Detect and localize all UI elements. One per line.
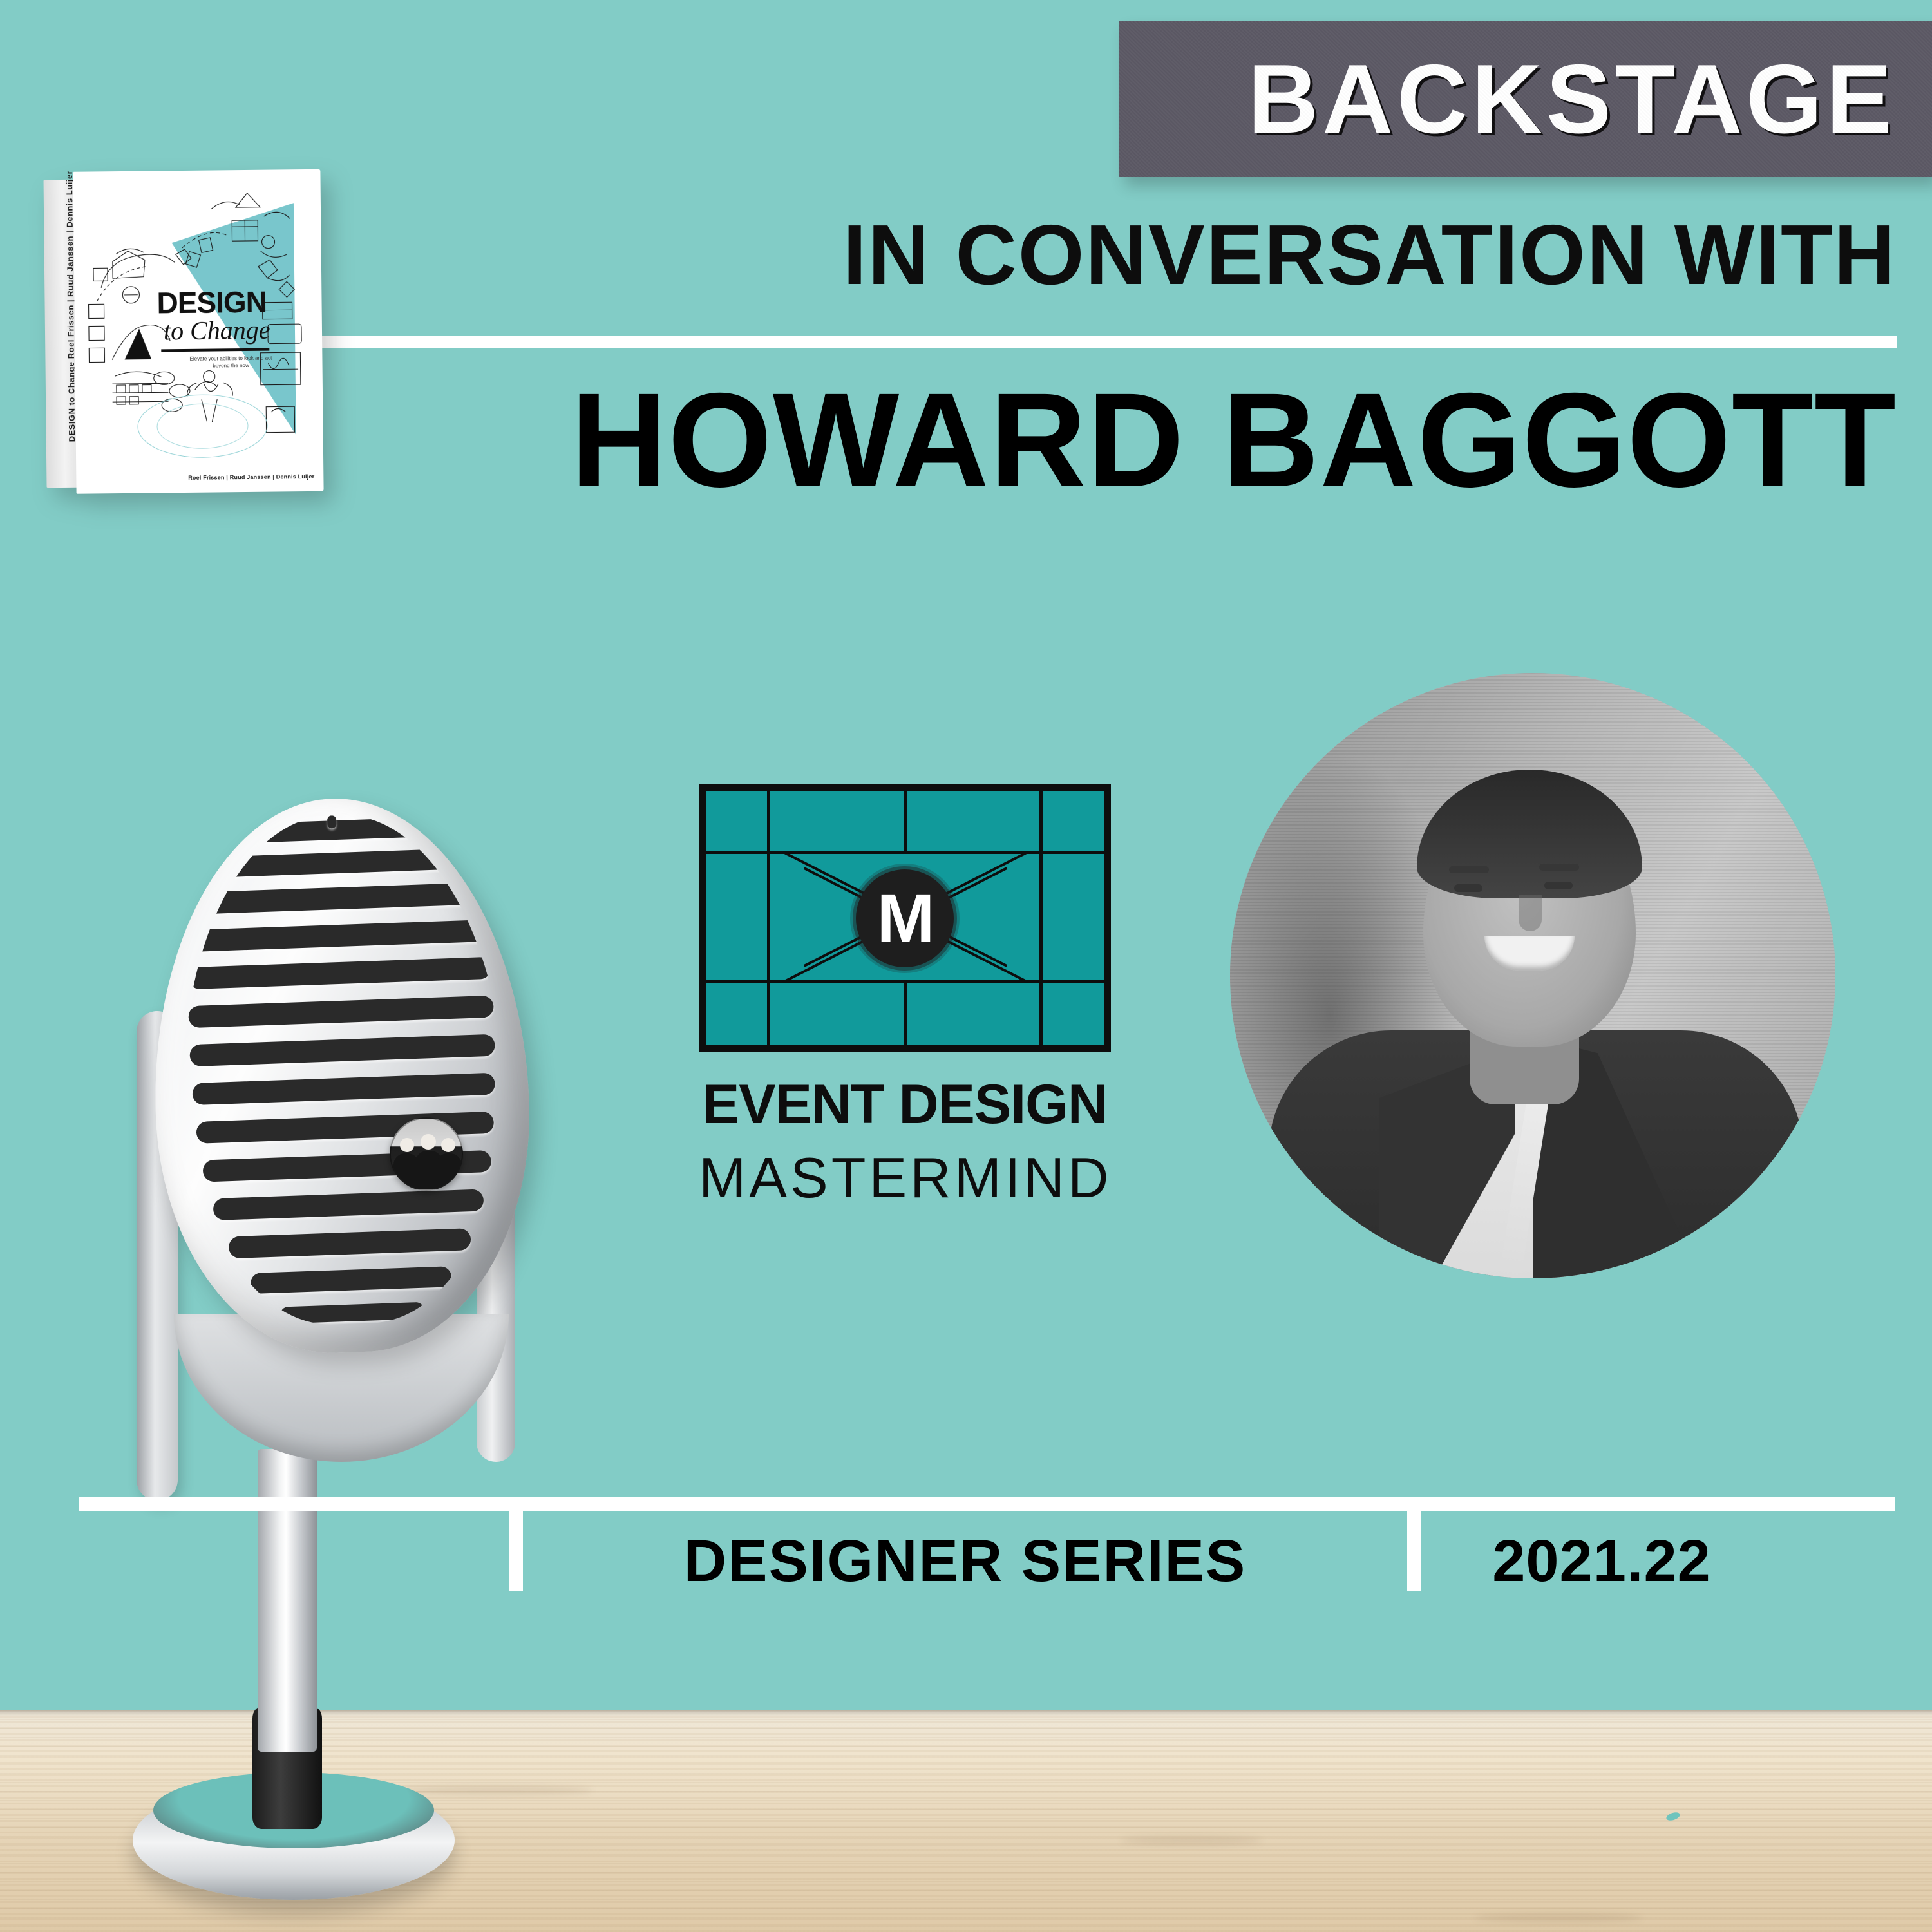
logo-wordmark-line1: EVENT DESIGN <box>699 1073 1111 1137</box>
wood-smudge <box>1475 1913 1642 1922</box>
portrait-nose <box>1519 895 1542 931</box>
microphone-stem <box>258 1449 317 1752</box>
portrait-eye-right <box>1544 882 1573 889</box>
footer-vertical-rule-left <box>509 1510 523 1591</box>
microphone-head <box>145 792 538 1359</box>
book-spine: DESIGN to Change Roel Frissen | Ruud Jan… <box>44 180 78 488</box>
backstage-badge: BACKSTAGE <box>1119 21 1932 177</box>
microphone-grille <box>175 810 512 1329</box>
logo-grid-line-bottom <box>904 981 907 1045</box>
logo-grid-line-v2 <box>1039 791 1043 1045</box>
logo-monogram-letter: M <box>877 884 933 953</box>
footer-series-label: DESIGNER SERIES <box>523 1528 1407 1595</box>
footer-vertical-rule-right <box>1407 1510 1421 1591</box>
book-cover-design-to-change: DESIGN to Change Roel Frissen | Ruud Jan… <box>43 169 323 494</box>
logo-wordmark-line2: MASTERMIND <box>699 1145 1111 1211</box>
logo-frame: M <box>699 784 1111 1052</box>
speaker-portrait <box>1230 673 1835 1278</box>
logo-grid-line-top <box>904 791 907 853</box>
footer-divider-rule <box>79 1497 1895 1511</box>
wood-smudge <box>1121 1836 1262 1845</box>
logo-monogram-circle: M <box>856 869 954 967</box>
poster-canvas: BACKSTAGE IN CONVERSATION WITH HOWARD BA… <box>0 0 1932 1932</box>
book-authors: Roel Frissen | Ruud Janssen | Dennis Lui… <box>76 473 314 482</box>
retro-microphone <box>77 799 592 1855</box>
portrait-eye-left <box>1454 884 1482 892</box>
event-design-mastermind-logo: M EVENT DESIGN MASTERMIND <box>699 784 1137 1261</box>
backstage-label: BACKSTAGE <box>1248 50 1895 148</box>
footer-season-label: 2021.22 <box>1421 1528 1782 1595</box>
header-divider-rule <box>301 336 1897 348</box>
book-subtitle: to Change <box>164 315 270 346</box>
book-tagline: Elevate your abilities to look and act b… <box>185 355 276 370</box>
portrait-brow-right <box>1539 864 1579 871</box>
page-title: HOWARD BAGGOTT <box>322 374 1897 507</box>
microphone-hosts-badge <box>390 1117 463 1191</box>
logo-grid-line-v1 <box>767 791 770 1045</box>
book-front-cover: DESIGN to Change Elevate your abilities … <box>73 169 323 494</box>
portrait-brow-left <box>1449 866 1489 873</box>
page-kicker: IN CONVERSATION WITH <box>567 213 1897 298</box>
